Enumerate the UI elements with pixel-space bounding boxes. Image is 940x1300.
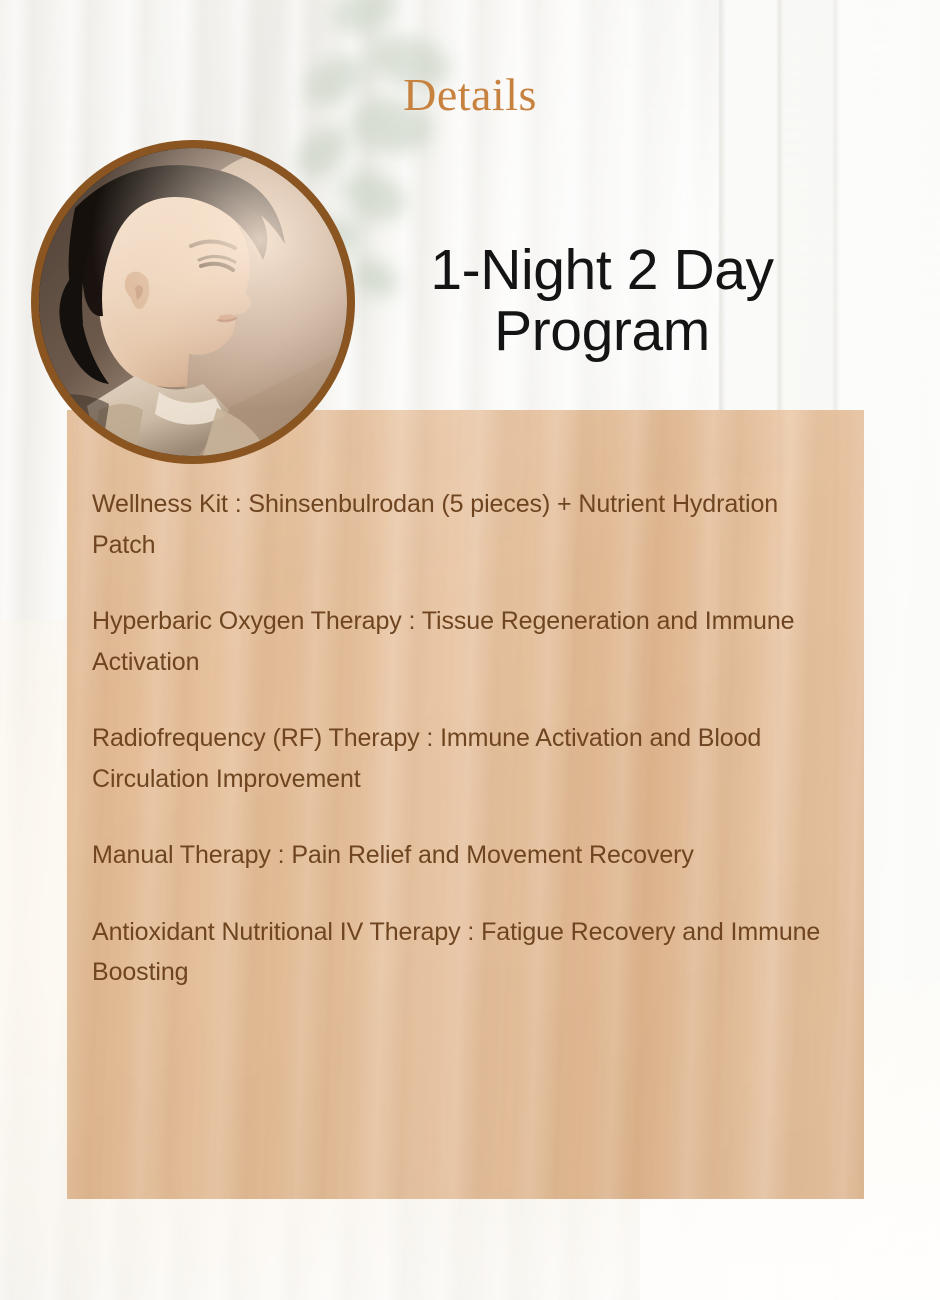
portrait-circle [31, 140, 355, 464]
portrait-image [39, 148, 347, 456]
program-heading-line-1: 1-Night 2 Day [400, 240, 804, 301]
list-item: Radiofrequency (RF) Therapy : Immune Act… [92, 718, 834, 799]
list-item: Manual Therapy : Pain Relief and Movemen… [92, 835, 834, 876]
list-item: Hyperbaric Oxygen Therapy : Tissue Regen… [92, 601, 834, 682]
list-item: Wellness Kit : Shinsenbulrodan (5 pieces… [92, 484, 834, 565]
program-heading: 1-Night 2 Day Program [400, 240, 804, 362]
sleeping-person-illustration [39, 148, 347, 456]
program-heading-line-2: Program [400, 301, 804, 362]
page-title: Details [0, 72, 940, 118]
program-list: Wellness Kit : Shinsenbulrodan (5 pieces… [92, 484, 834, 993]
list-item: Antioxidant Nutritional IV Therapy : Fat… [92, 912, 834, 993]
details-poster: Details 1-Night 2 Day Program [0, 0, 940, 1300]
